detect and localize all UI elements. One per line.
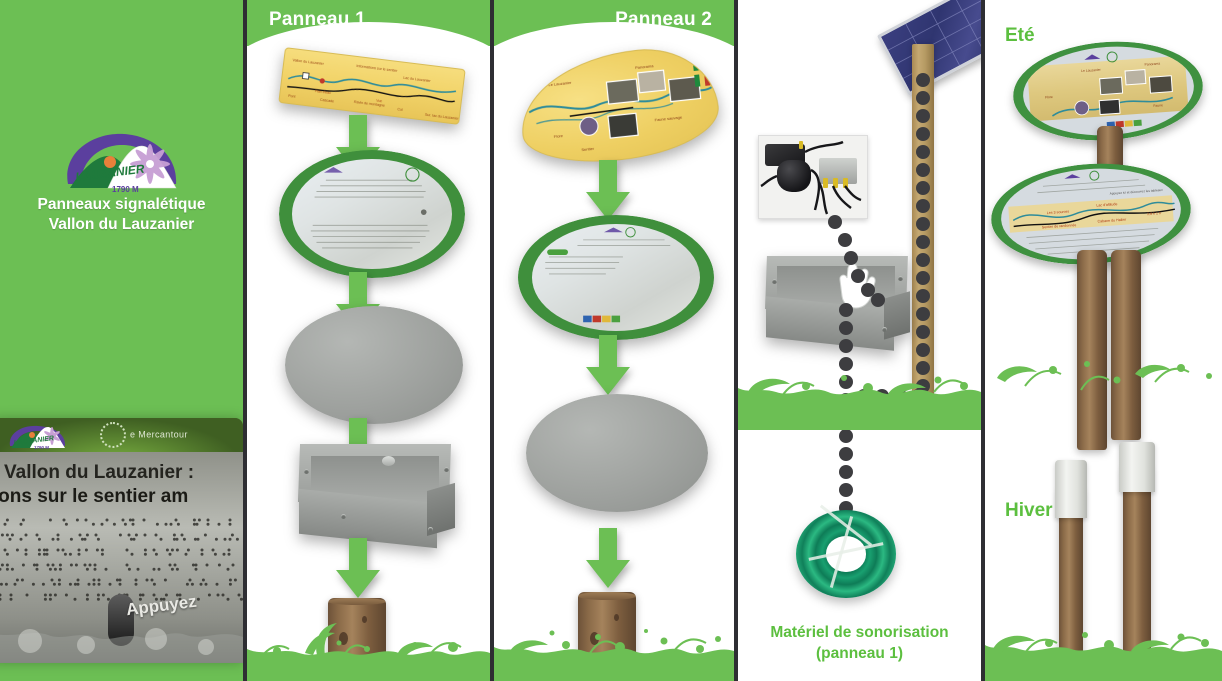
svg-text:Panorama: Panorama [1144, 61, 1160, 66]
caisson-metallique [289, 440, 461, 552]
season-label-winter: Hiver [1005, 500, 1053, 522]
post-knot [590, 632, 599, 645]
caption-line2: (panneau 1) [738, 643, 981, 664]
column-panneau-1: Panneau 1 Vallon du Lauzanier Informatio… [247, 0, 490, 681]
post-knot [614, 614, 619, 621]
svg-text:Cascade: Cascade [320, 98, 335, 104]
poteau-bois-droit [1111, 250, 1141, 440]
svg-text:Le Lauzanier: Le Lauzanier [1081, 68, 1102, 73]
caption-line1: Matériel de sonorisation [738, 622, 981, 643]
arrow-down-icon-2 [584, 335, 632, 397]
lauzanier-logo-icon-small: LAUZANIER 1790 M [2, 422, 80, 450]
svg-text:Flore: Flore [1045, 95, 1053, 100]
svg-text:Faune: Faune [1153, 103, 1163, 108]
svg-text:Sentier: Sentier [581, 146, 595, 152]
mercantour-park-logo: e Mercantour [100, 422, 220, 448]
capuchon-blanc-gauche [1055, 460, 1087, 518]
arrow-down-icon-4 [334, 538, 382, 600]
column-header-label: Panneau 2 [615, 9, 712, 31]
page-title-line2: Vallon du Lauzanier [0, 215, 243, 235]
svg-text:Col: Col [397, 107, 403, 112]
svg-text:Vue: Vue [376, 99, 382, 104]
svg-text:Sur. lac du Lauzanier: Sur. lac du Lauzanier [425, 113, 460, 121]
arrow-down-icon-1 [584, 160, 632, 222]
braille-panel-photo: LAUZANIER 1790 M e Mercantour Vallon du … [0, 418, 243, 663]
box-cable-grommet [382, 456, 395, 466]
lauzanier-logo-icon: LAUZANIER 1790 M [50, 126, 195, 194]
support-ovale-gris [285, 306, 463, 424]
panel-face [292, 159, 452, 269]
box-screw [444, 467, 449, 472]
poteau-bois [328, 598, 386, 676]
svg-text:Plan d'eau: Plan d'eau [315, 89, 331, 95]
foliage-overlay [0, 589, 243, 663]
arrow-down-icon-3 [584, 528, 632, 590]
support-ovale-gris [526, 394, 708, 512]
post-top-face [578, 592, 636, 600]
svg-text:Panorama: Panorama [635, 63, 655, 70]
post-knot [362, 616, 367, 623]
brand-panel: LAUZANIER 1790 M Panneaux signalétique V… [0, 0, 243, 681]
post-knot [339, 632, 348, 645]
column-sonorisation: Matériel de sonorisation (panneau 1) [738, 0, 981, 681]
bobine-de-cable-verte [796, 510, 896, 598]
svg-text:Pont: Pont [288, 94, 296, 99]
svg-text:Le Lauzanier: Le Lauzanier [548, 80, 572, 87]
column-caption: Matériel de sonorisation (panneau 1) [738, 622, 981, 664]
svg-text:Appuyez ici et découvrez les t: Appuyez ici et découvrez les tableaux [1109, 188, 1163, 196]
braille-panel-subheading: ations sur le sentier am [0, 486, 188, 508]
page-title: Panneaux signalétique Vallon du Lauzanie… [0, 195, 243, 235]
capuchon-blanc-droit [1119, 442, 1155, 492]
logo-altitude: 1790 M [112, 185, 139, 194]
page-title-line1: Panneaux signalétique [0, 195, 243, 215]
post-top-face [328, 598, 386, 605]
support-face [526, 394, 708, 512]
poster-canvas: LAUZANIER 1790 M Panneaux signalétique V… [0, 0, 1222, 681]
support-face [285, 306, 463, 424]
panneau-ovale-interpretation [518, 215, 714, 340]
svg-text:Informations sur le sentier: Informations sur le sentier [356, 64, 398, 73]
svg-text:Vallon du Lauzanier: Vallon du Lauzanier [292, 58, 325, 66]
box-screw [341, 514, 346, 519]
panel-face [532, 224, 701, 332]
svg-text:1790 M: 1790 M [34, 445, 49, 450]
braille-panel-heading: Vallon du Lauzanier : [4, 462, 194, 484]
column-saisons: Eté Le LauzanierPanorama FloreFaun [985, 0, 1222, 681]
column-header-label: Panneau 1 [269, 9, 366, 31]
season-label-summer: Eté [1005, 25, 1035, 47]
svg-text:Faune sauvage: Faune sauvage [654, 114, 683, 122]
poteau-bois-gauche [1077, 250, 1107, 450]
panneau-carte-jaune-decoupe: Le LauzanierPanorama FloreFaune sauvage … [515, 42, 723, 170]
mercantour-swirl-icon [100, 422, 126, 448]
panneau-ovale-interpretation [279, 150, 465, 278]
connection-dotted-lines [738, 0, 981, 600]
column-panneau-2: Panneau 2 Le LauzanierPanorama FloreFaun… [494, 0, 734, 681]
poteau-bois [578, 592, 636, 676]
svg-text:Lac du Lauzanier: Lac du Lauzanier [403, 76, 432, 83]
svg-text:Flore: Flore [554, 133, 564, 139]
foliage-band-bottom [985, 585, 1222, 681]
poteau-hiver-droit [1123, 464, 1151, 662]
